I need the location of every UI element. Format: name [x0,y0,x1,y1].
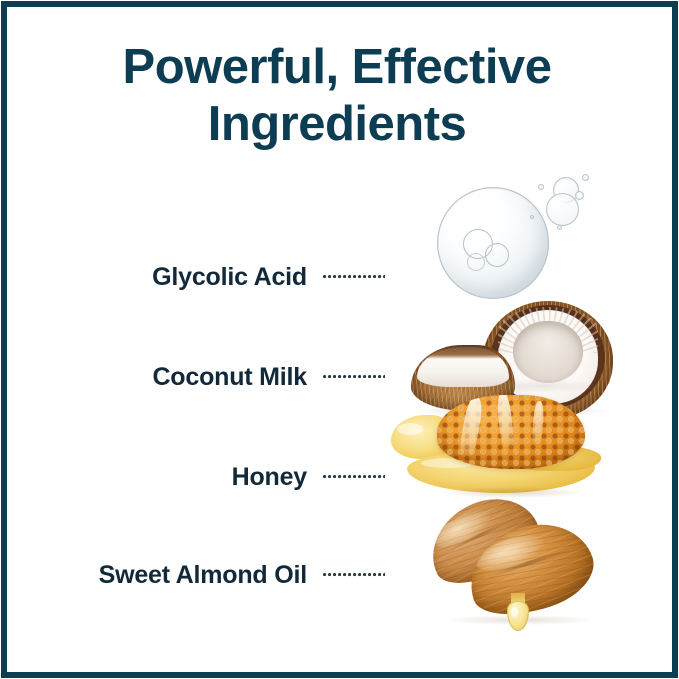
ingredient-label: Glycolic Acid [7,263,307,292]
page-title-line-2: Ingredients [37,96,637,153]
ingredient-label: Coconut Milk [7,363,307,392]
honey-top-shadow [481,379,601,393]
ingredient-list: Glycolic Acid [7,167,672,667]
almond-illustration [395,497,665,647]
gel-inner-ring-2 [485,243,509,267]
ingredient-label: Honey [7,463,307,492]
card-inner: Powerful, Effective Ingredients Glycolic… [7,7,672,672]
bubble-icon-4 [582,174,589,181]
list-item: Sweet Almond Oil [7,525,672,625]
bubble-icon-3 [575,191,584,200]
bubble-icon-5 [538,184,544,190]
page-title: Powerful, Effective Ingredients [37,39,637,153]
dotted-leader-icon [323,475,385,479]
honeycomb-chunk [437,395,585,469]
coconut-cavity [513,321,583,383]
bubble-icon-7 [530,215,534,219]
dotted-leader-icon [323,573,385,577]
bubble-icon-2 [546,193,579,226]
page-title-line-1: Powerful, Effective [123,40,552,94]
coconut-shell-edge-small [415,345,511,359]
gel-inner-ring-3 [467,253,485,271]
bubble-icon-6 [557,225,562,230]
ingredient-label: Sweet Almond Oil [7,561,307,590]
dotted-leader-icon [323,375,385,379]
oil-drop-icon [507,601,529,631]
almonds-with-oil-drop-image [385,525,672,625]
dotted-leader-icon [323,275,385,279]
ingredients-infographic-card: Powerful, Effective Ingredients Glycolic… [0,0,679,679]
